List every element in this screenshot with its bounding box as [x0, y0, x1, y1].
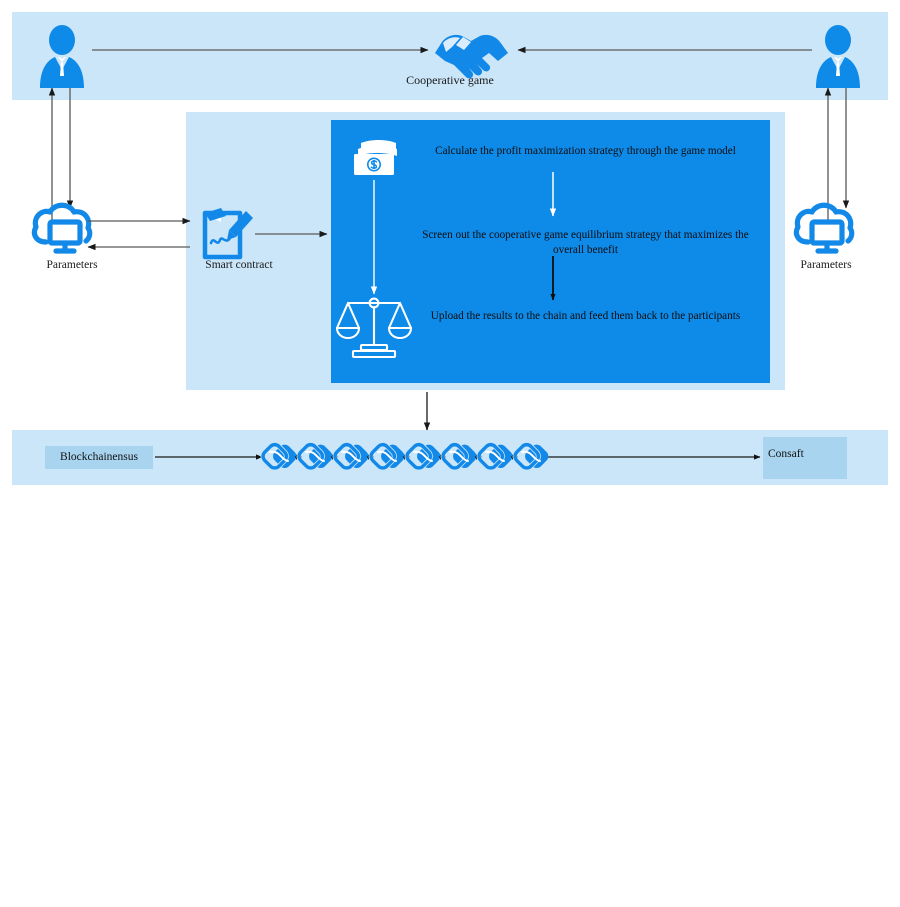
blockchain-link-icon	[261, 442, 299, 470]
smart-contract-label: Smart contract	[174, 258, 304, 274]
blockchain-link-icon	[297, 442, 335, 470]
parameters-label-left: Parameters	[12, 258, 132, 274]
blockchain-link-icon	[513, 442, 551, 470]
core-step-2: Screen out the cooperative game equilibr…	[408, 228, 763, 258]
blockchainensus-box[interactable]: Blockchainensus	[45, 446, 153, 469]
blockchain-link-icon	[441, 442, 479, 470]
parameters-label-right: Parameters	[766, 258, 886, 274]
cloud-computer-icon-right	[796, 205, 851, 251]
cooperative-game-label: Cooperative game	[0, 72, 900, 88]
blockchain-link-icon	[369, 442, 407, 470]
core-step-1: Calculate the profit maximization strate…	[408, 144, 763, 159]
signed-contract-icon	[205, 208, 253, 257]
blockchain-link-icon	[405, 442, 443, 470]
blockchain-link-icon	[477, 442, 515, 470]
consaft-label: Consaft	[768, 448, 804, 460]
diagram-canvas: Cooperative game Parameters Parameters S…	[0, 0, 900, 493]
blockchain-chain	[261, 442, 551, 470]
consaft-box[interactable]: Consaft Raft	[763, 437, 847, 479]
money-stack-icon	[354, 140, 397, 175]
balance-scale-icon	[337, 299, 411, 357]
blockchain-link-icon	[333, 442, 371, 470]
blockchainensus-label: Blockchainensus	[45, 446, 153, 469]
core-step-3: Upload the results to the chain and feed…	[408, 309, 763, 324]
cloud-computer-icon-left	[34, 205, 89, 251]
